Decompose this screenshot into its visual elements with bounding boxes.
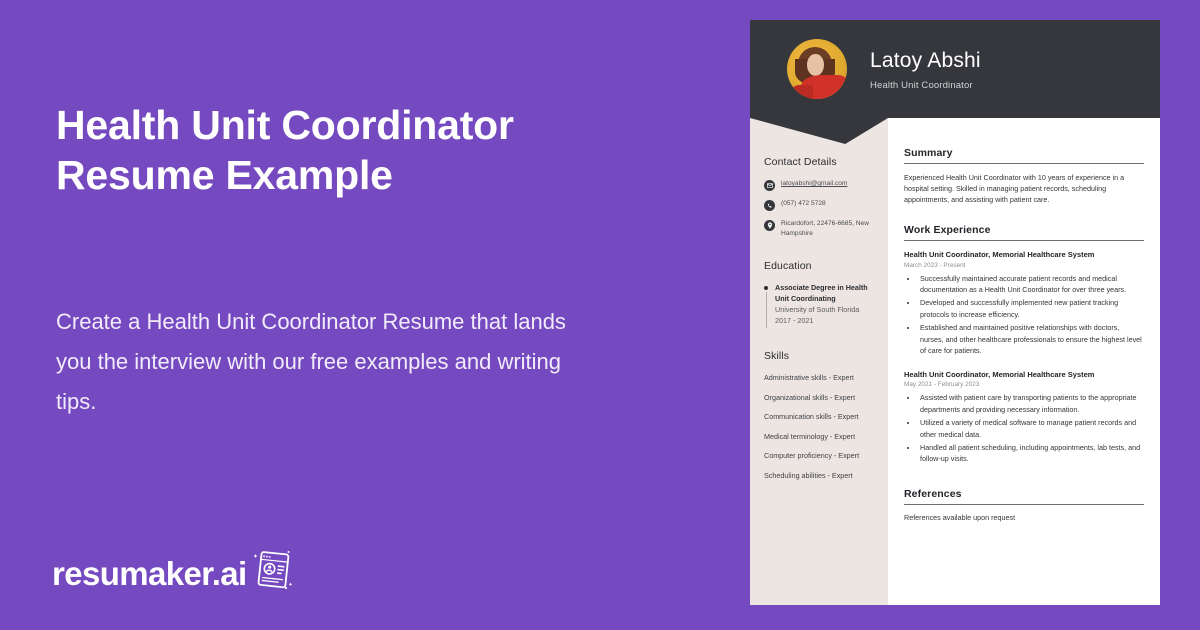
resume-sidebar: Contact Details latoyabshi@gmail.com (05… (750, 118, 888, 605)
work-experience-divider (904, 240, 1144, 241)
education-heading: Education (764, 260, 875, 272)
contact-row-phone: (057) 472 5728 (764, 199, 875, 211)
contact-row-email[interactable]: latoyabshi@gmail.com (764, 179, 875, 191)
skill-item: Administrative skills - Expert (764, 373, 875, 382)
logo-wordmark: resumaker.ai (52, 557, 247, 590)
resume-role: Health Unit Coordinator (870, 80, 981, 91)
education-item: Associate Degree in Health Unit Coordina… (764, 283, 875, 326)
job-bullet: Established and maintained positive rela… (918, 322, 1144, 356)
work-experience-heading: Work Experience (904, 224, 1144, 236)
job-bullet: Assisted with patient care by transporti… (918, 392, 1144, 414)
education-degree: Associate Degree in Health Unit Coordina… (775, 283, 875, 304)
skill-item: Organizational skills - Expert (764, 393, 875, 402)
references-text: References available upon request (904, 513, 1144, 522)
job-date: March 2023 - Present (904, 262, 1144, 269)
phone-icon (764, 200, 775, 211)
summary-text: Experienced Health Unit Coordinator with… (904, 172, 1144, 205)
job-entry: Health Unit Coordinator, Memorial Health… (904, 369, 1144, 465)
job-bullet: Successfully maintained accurate patient… (918, 273, 1144, 295)
skill-item: Scheduling abilities - Expert (764, 471, 875, 480)
job-entry: Health Unit Coordinator, Memorial Health… (904, 249, 1144, 356)
education-school: University of South Florida (775, 305, 875, 316)
contact-email[interactable]: latoyabshi@gmail.com (781, 179, 847, 189)
job-title: Health Unit Coordinator, Memorial Health… (904, 369, 1144, 380)
job-bullet: Handled all patient scheduling, includin… (918, 442, 1144, 464)
references-divider (904, 504, 1144, 505)
resume-name: Latoy Abshi (870, 48, 981, 74)
job-date: May 2021 - February 2023 (904, 381, 1144, 388)
references-heading: References (904, 488, 1144, 500)
summary-heading: Summary (904, 147, 1144, 159)
skill-item: Computer proficiency - Expert (764, 451, 875, 460)
page-subtitle: Create a Health Unit Coordinator Resume … (56, 302, 586, 422)
resume-header: Latoy Abshi Health Unit Coordinator (750, 20, 1160, 118)
document-profile-icon (249, 546, 295, 597)
avatar (787, 39, 847, 99)
resume-main-column: Summary Experienced Health Unit Coordina… (888, 118, 1160, 605)
skill-item: Medical terminology - Expert (764, 432, 875, 441)
education-years: 2017 - 2021 (775, 316, 875, 327)
contact-row-address: Ricardofort, 22476-6685, New Hampshire (764, 219, 875, 238)
contact-phone: (057) 472 5728 (781, 199, 826, 209)
skills-heading: Skills (764, 350, 875, 362)
resume-preview-card[interactable]: Latoy Abshi Health Unit Coordinator Cont… (750, 20, 1160, 605)
promo-panel: Health Unit Coordinator Resume Example C… (0, 0, 750, 630)
envelope-icon (764, 180, 775, 191)
resumaker-logo[interactable]: resumaker.ai (52, 550, 295, 597)
contact-address: Ricardofort, 22476-6685, New Hampshire (781, 219, 875, 238)
job-title: Health Unit Coordinator, Memorial Health… (904, 249, 1144, 260)
summary-divider (904, 163, 1144, 164)
contact-details-heading: Contact Details (764, 156, 875, 168)
job-bullet-list: Successfully maintained accurate patient… (918, 273, 1144, 356)
page-title: Health Unit Coordinator Resume Example (56, 100, 616, 200)
job-bullet: Utilized a variety of medical software t… (918, 417, 1144, 439)
job-bullet-list: Assisted with patient care by transporti… (918, 392, 1144, 464)
skill-item: Communication skills - Expert (764, 412, 875, 421)
job-bullet: Developed and successfully implemented n… (918, 297, 1144, 319)
location-pin-icon (764, 220, 775, 231)
